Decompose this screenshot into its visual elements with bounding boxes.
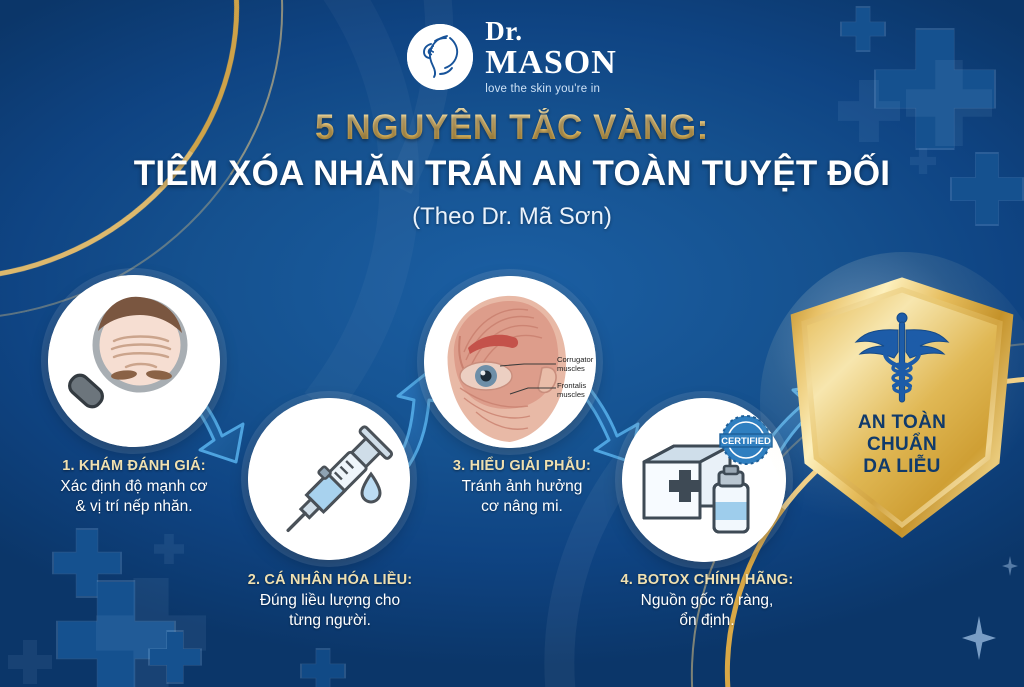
sparkle-star-icon [962,616,996,660]
step-3-heading: 3. HIỂU GIẢI PHẪU: [400,458,644,474]
step-1-body-line2: & vị trí nếp nhăn. [75,498,192,515]
step-3-body-line2: cơ nâng mi. [481,498,563,515]
step-2-heading: 2. CÁ NHÂN HÓA LIỀU: [196,572,464,588]
shield-line-3: DA LIỄU [786,456,1018,478]
brand-name-line2: MASON [485,46,617,80]
medical-cross-icon [56,580,176,687]
step-4-caption: 4. BOTOX CHÍNH HÃNG: Nguồn gốc rõ ràng, … [576,572,838,631]
magnifier-forehead-wrinkles-icon [48,275,220,447]
step-1-caption: 1. KHÁM ĐÁNH GIÁ: Xác định độ mạnh cơ & … [6,458,262,517]
title-gold-line: 5 NGUYÊN TẮC VÀNG: [0,108,1024,148]
shield-text-block: AN TOÀN CHUẨN DA LIỄU [786,412,1018,478]
syringe-droplet-icon [248,398,410,560]
anatomy-label-corrugator-line2: muscles [557,364,585,373]
step-4-body-line1: Nguồn gốc rõ ràng, [641,592,774,609]
step-3-icon-circle: Corrugator muscles Frontalis muscles [424,276,596,448]
infographic-poster: Dr. MASON love the skin you're in 5 NGUY… [0,0,1024,687]
step-3-caption: 3. HIỂU GIẢI PHẪU: Tránh ảnh hưởng cơ nâ… [400,458,644,517]
brand-tagline: love the skin you're in [485,84,617,96]
anatomy-label-frontalis-line2: muscles [557,390,585,399]
result-shield: AN TOÀN CHUẨN DA LIỄU [786,272,1018,538]
medical-cross-icon [8,640,52,684]
step-2-body-line2: từng người. [289,612,371,629]
step-1-heading: 1. KHÁM ĐÁNH GIÁ: [6,458,262,474]
brand-logo: Dr. MASON love the skin you're in [0,18,1024,96]
step-1-body-line1: Xác định độ mạnh cơ [60,478,207,495]
medical-cross-icon [96,578,206,687]
caduceus-medical-icon [854,306,950,415]
title-block: 5 NGUYÊN TẮC VÀNG: TIÊM XÓA NHĂN TRÁN AN… [0,108,1024,231]
title-subtitle: (Theo Dr. Mã Sơn) [0,203,1024,231]
step-3-body-line1: Tránh ảnh hưởng [462,478,583,495]
medical-cross-icon [300,648,346,687]
step-1-icon-circle [48,275,220,447]
step-4-heading: 4. BOTOX CHÍNH HÃNG: [576,572,838,588]
step-4-body-line2: ổn định. [679,612,734,629]
step-2-body-line1: Đúng liều lượng cho [260,592,400,609]
dr-mason-face-logo-icon [407,24,473,90]
brand-name-line1: Dr. [485,18,617,45]
facial-muscle-anatomy-icon: Corrugator muscles Frontalis muscles [424,276,596,448]
medical-cross-icon [148,630,202,684]
step-2-icon-circle [248,398,410,560]
sparkle-star-icon [1002,556,1018,576]
anatomy-label-frontalis-line1: Frontalis [557,381,586,390]
brand-wordmark: Dr. MASON love the skin you're in [485,18,617,96]
shield-line-1: AN TOÀN [786,412,1018,434]
anatomy-label-corrugator-line1: Corrugator [557,355,594,364]
step-2-caption: 2. CÁ NHÂN HÓA LIỀU: Đúng liều lượng cho… [196,572,464,631]
title-white-line: TIÊM XÓA NHĂN TRÁN AN TOÀN TUYỆT ĐỐI [0,154,1024,194]
shield-line-2: CHUẨN [786,434,1018,456]
